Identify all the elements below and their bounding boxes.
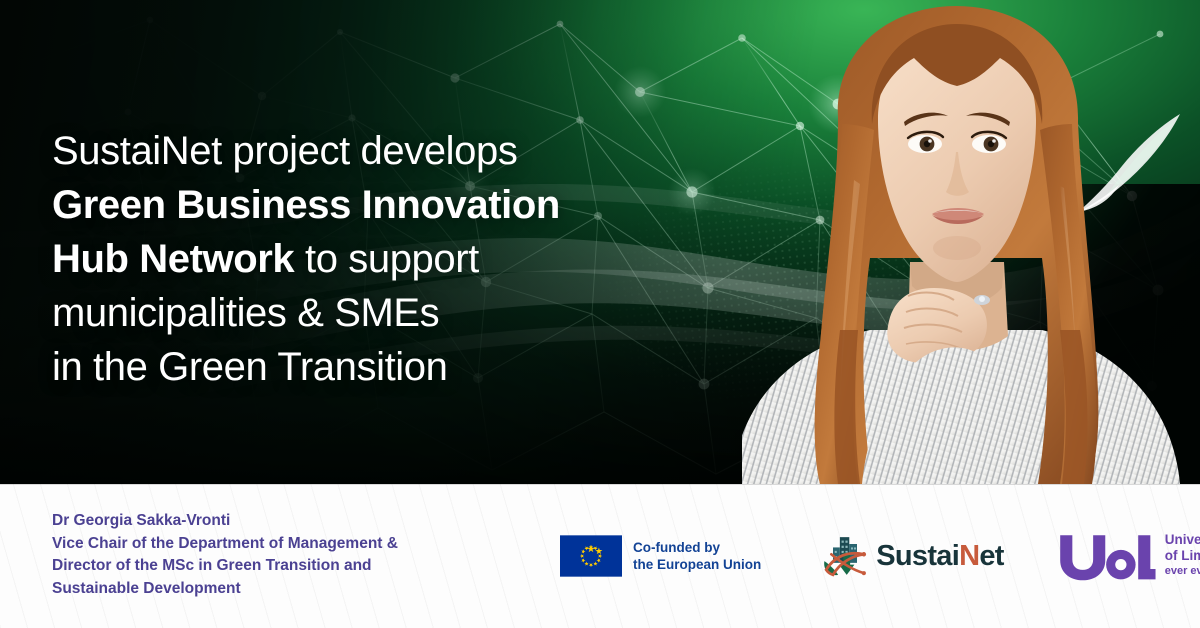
uol-line-1: University bbox=[1165, 532, 1200, 547]
logo-strip: Co-funded by the European Union bbox=[556, 484, 1196, 628]
speaker-role-line-1: Vice Chair of the Department of Manageme… bbox=[52, 533, 398, 556]
uol-logo: University of Limassol ever evolving bbox=[1058, 530, 1200, 582]
speaker-portrait-photo bbox=[742, 0, 1200, 484]
headline-line-1: SustaiNet project develops bbox=[52, 124, 672, 178]
speaker-credit: Dr Georgia Sakka-Vronti Vice Chair of th… bbox=[52, 510, 398, 600]
headline-line-4: municipalities & SMEs bbox=[52, 286, 672, 340]
page-title: SustaiNet project develops Green Busines… bbox=[52, 124, 672, 394]
sustainet-word-part-3: et bbox=[979, 540, 1003, 572]
eu-cofunding-logo: Co-funded by the European Union bbox=[560, 535, 761, 577]
sustainet-logo: SustaiNet bbox=[819, 532, 1003, 580]
headline-line-3-rest: to support bbox=[294, 237, 479, 281]
hero-section: SustaiNet project develops Green Busines… bbox=[0, 0, 1200, 484]
headline-line-3: Hub Network to support bbox=[52, 232, 672, 286]
uol-wordmark-text: University of Limassol ever evolving bbox=[1165, 532, 1200, 582]
speaker-name: Dr Georgia Sakka-Vronti bbox=[52, 510, 398, 533]
footer-section: Dr Georgia Sakka-Vronti Vice Chair of th… bbox=[0, 484, 1200, 628]
sustainet-word-part-1: Sustai bbox=[876, 540, 959, 572]
speaker-role-line-3: Sustainable Development bbox=[52, 578, 398, 601]
headline-line-5: in the Green Transition bbox=[52, 340, 672, 394]
sustainet-wordmark: SustaiNet bbox=[876, 540, 1003, 573]
sustainet-mark-icon bbox=[819, 532, 871, 580]
eu-text-line-1: Co-funded by bbox=[633, 540, 720, 555]
uol-line-2: of Limassol bbox=[1165, 548, 1200, 563]
uol-tagline: ever evolving bbox=[1165, 565, 1200, 577]
eu-cofunding-text: Co-funded by the European Union bbox=[633, 539, 761, 573]
sustainet-word-part-2: N bbox=[959, 540, 979, 572]
uol-mark-icon bbox=[1058, 530, 1156, 582]
eu-text-line-2: the European Union bbox=[633, 557, 761, 572]
speaker-role-line-2: Director of the MSc in Green Transition … bbox=[52, 555, 398, 578]
headline-line-2: Green Business Innovation bbox=[52, 178, 672, 232]
promotional-banner: SustaiNet project develops Green Busines… bbox=[0, 0, 1200, 628]
eu-flag-icon bbox=[560, 535, 622, 577]
